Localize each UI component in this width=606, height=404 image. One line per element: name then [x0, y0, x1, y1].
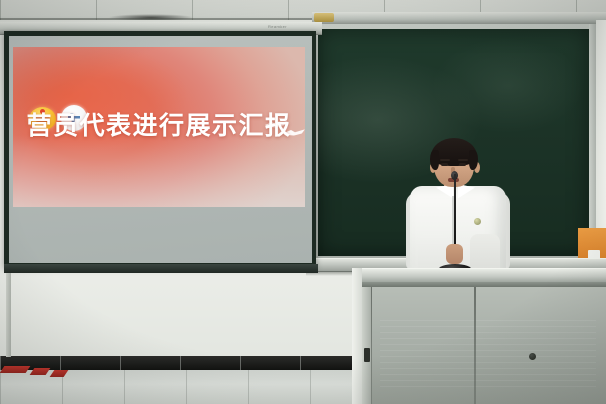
- eye-left: [441, 163, 448, 166]
- eye-right: [459, 163, 466, 166]
- podium-side: [362, 287, 371, 404]
- eyebrow-left: [440, 159, 450, 161]
- shirt-badge: [474, 218, 481, 225]
- hand: [446, 244, 463, 264]
- rail-endcap: [314, 13, 334, 22]
- floor-accent-stripe: [0, 366, 30, 373]
- housing-brand-label: Reamker: [268, 24, 287, 29]
- eyebrow-right: [458, 159, 468, 161]
- right-wall-strip: [596, 20, 606, 260]
- podium-vent-texture: [380, 320, 596, 390]
- projection-screen-bottom-bar: [4, 264, 318, 273]
- presenter: [396, 138, 526, 278]
- cabinet-knob: [529, 353, 536, 360]
- hair-side-left: [430, 150, 439, 170]
- projection-screen-support-pole: [6, 273, 11, 357]
- slide-title: 营员代表进行展示汇报: [13, 106, 305, 142]
- presentation-slide: 营员代表进行展示汇报: [13, 47, 305, 207]
- podium-latch: [364, 348, 370, 362]
- podium-top: [362, 268, 606, 283]
- classroom-scene: Reamker 营员代表进行展示汇报: [0, 0, 606, 404]
- podium-panel-divider: [474, 287, 476, 404]
